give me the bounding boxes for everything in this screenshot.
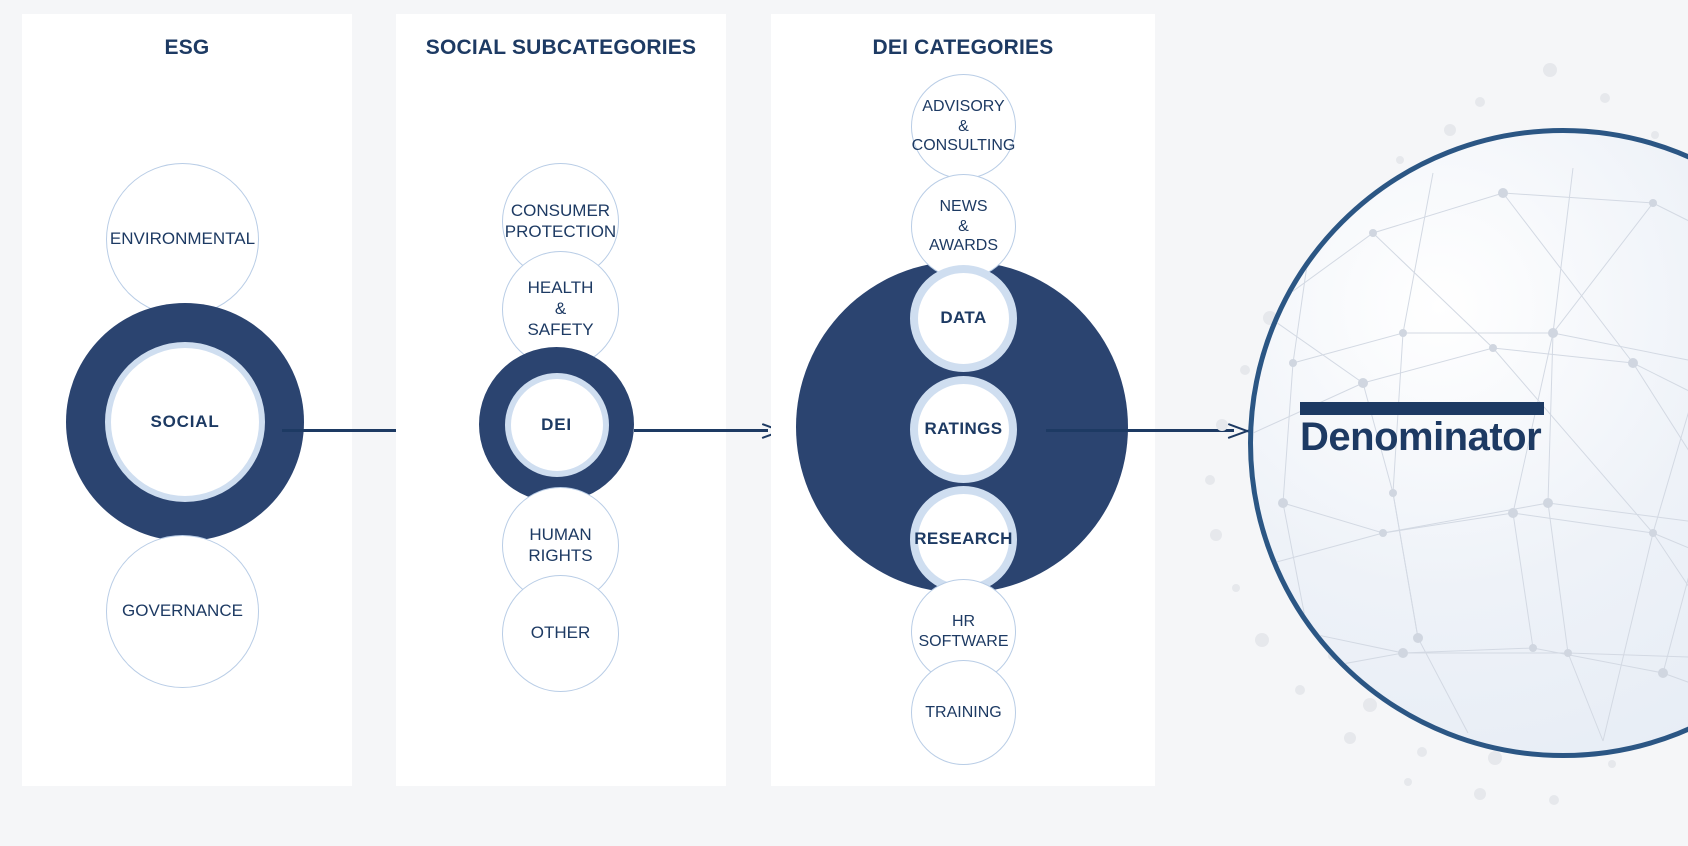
circle-label: ENVIRONMENTAL [110,229,255,250]
circle-social[interactable]: SOCIAL [66,303,304,541]
circle-social-inner: SOCIAL [105,342,265,502]
arrow-shaft [282,429,414,432]
circle-label: SOCIAL [150,412,219,432]
circle-label: DEI [541,415,572,435]
arrow-shaft [1046,429,1234,432]
arrow-head-icon [1228,420,1250,442]
panel-title-social-subcategories: SOCIAL SUBCATEGORIES [396,36,726,60]
circle-training[interactable]: TRAINING [911,660,1016,765]
circle-governance[interactable]: GOVERNANCE [106,535,259,688]
circle-label: HUMAN RIGHTS [528,525,592,566]
circle-label: RESEARCH [914,529,1013,550]
arrow-dei-categories-to-denominator [1046,420,1250,442]
logo-wordmark: Denominator [1300,417,1550,457]
circle-advisory-consulting[interactable]: ADVISORY & CONSULTING [911,74,1016,179]
logo-bar [1300,402,1544,415]
circle-label: OTHER [531,623,591,644]
arrow-dei-to-dei-categories [634,420,784,442]
circle-label: HR SOFTWARE [918,612,1008,651]
circle-label: CONSUMER PROTECTION [505,201,616,242]
circle-dei-inner: DEI [505,373,609,477]
circle-label: HEALTH & SAFETY [527,278,593,340]
circle-label: RATINGS [924,419,1002,440]
denominator-logo: Denominator [1300,402,1550,457]
circle-label: TRAINING [925,703,1001,723]
circle-news-awards[interactable]: NEWS & AWARDS [911,174,1016,279]
circle-label: NEWS & AWARDS [929,197,998,256]
circle-label: DATA [940,308,986,329]
diagram-canvas: ESG ENVIRONMENTAL SOCIAL GOVERNANCE SOCI… [0,0,1688,846]
arrow-shaft [634,429,768,432]
circle-research[interactable]: RESEARCH [910,486,1017,593]
circle-environmental[interactable]: ENVIRONMENTAL [106,163,259,316]
circle-dei[interactable]: DEI [479,347,634,502]
panel-title-esg: ESG [22,36,352,60]
circle-data[interactable]: DATA [910,265,1017,372]
circle-label: ADVISORY & CONSULTING [912,97,1016,156]
panel-title-dei-categories: DEI CATEGORIES [771,36,1155,60]
circle-ratings[interactable]: RATINGS [910,376,1017,483]
circle-label: GOVERNANCE [122,601,243,622]
circle-other[interactable]: OTHER [502,575,619,692]
